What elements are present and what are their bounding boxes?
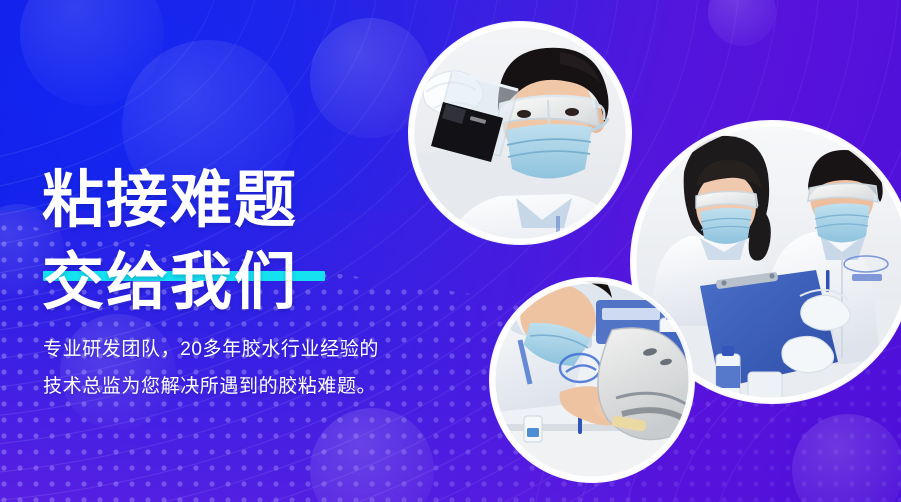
subtitle-line-1: 专业研发团队，20多年胶水行业经验的	[43, 331, 379, 368]
page-title: 粘接难题 交给我们	[42, 160, 298, 324]
headline-line-2: 交给我们	[42, 242, 298, 324]
headline-line-1: 粘接难题	[42, 160, 298, 242]
hero-banner: 粘接难题 交给我们 专业研发团队，20多年胶水行业经验的 技术总监为您解决所遇到…	[0, 0, 901, 502]
subtitle: 专业研发团队，20多年胶水行业经验的 技术总监为您解决所遇到的胶粘难题。	[43, 331, 379, 405]
subtitle-line-2: 技术总监为您解决所遇到的胶粘难题。	[43, 368, 379, 405]
photo-scientist-with-beaker	[365, 23, 632, 284]
